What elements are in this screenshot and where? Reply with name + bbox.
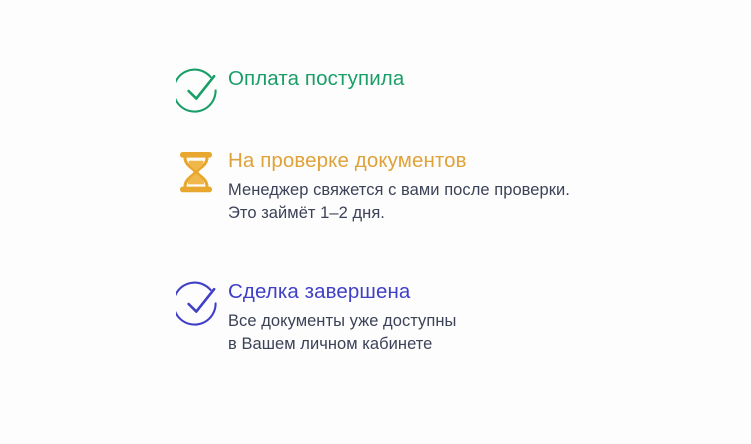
status-step-text: На проверке документов Менеджер свяжется…	[228, 148, 570, 224]
circle-check-icon	[176, 279, 228, 327]
status-step-body: Менеджер свяжется с вами после проверки.…	[228, 179, 570, 224]
status-step-deal-completed: Сделка завершена Все документы уже досту…	[176, 279, 456, 355]
hourglass-icon	[176, 148, 228, 194]
status-step-heading: На проверке документов	[228, 148, 570, 174]
status-step-body: Все документы уже доступны в Вашем лично…	[228, 310, 456, 355]
status-step-heading: Оплата поступила	[228, 66, 404, 92]
status-step-text: Оплата поступила	[228, 66, 404, 92]
circle-check-icon	[176, 66, 228, 114]
status-step-payment-received: Оплата поступила	[176, 66, 404, 114]
status-step-documents-review: На проверке документов Менеджер свяжется…	[176, 148, 570, 224]
order-status-list: Оплата поступила На проверке документов	[0, 0, 751, 444]
status-step-heading: Сделка завершена	[228, 279, 456, 305]
status-step-text: Сделка завершена Все документы уже досту…	[228, 279, 456, 355]
